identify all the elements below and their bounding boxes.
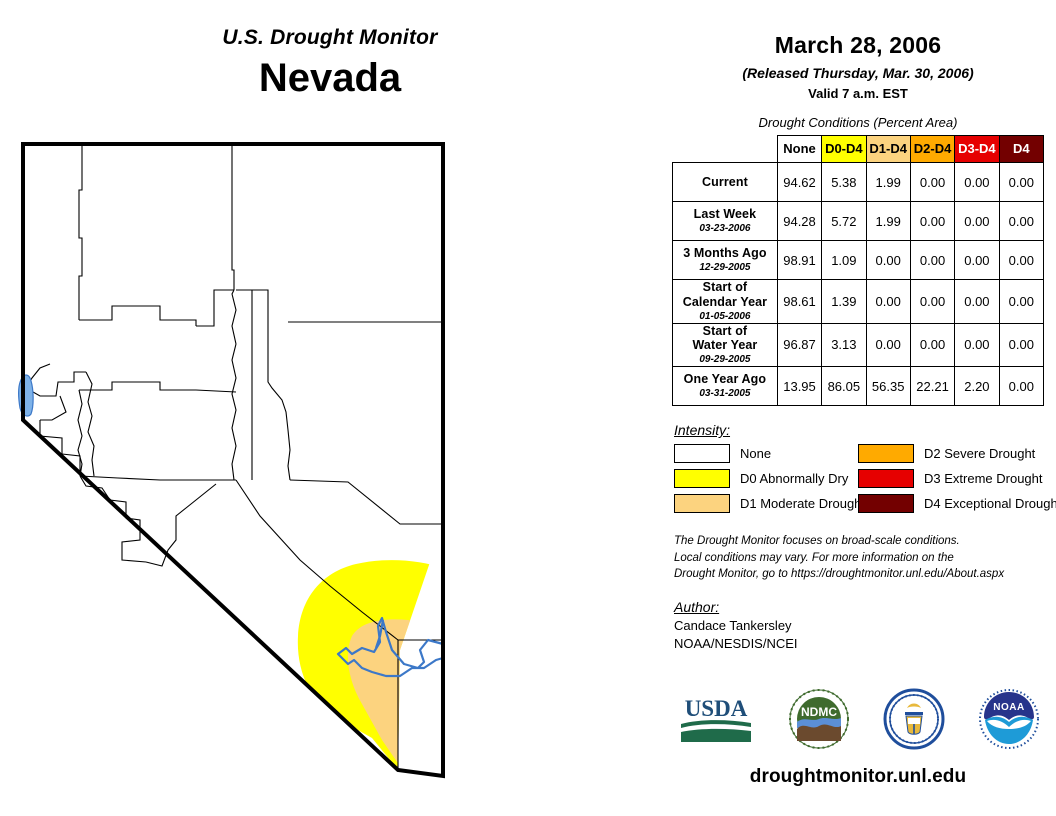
usda-logo: USDA [677,692,755,746]
table-cell-d0-d4: 1.09 [822,241,866,280]
legend-swatch [674,494,730,513]
table-row: Current94.625.381.990.000.000.00 [673,163,1044,202]
table-cell-d0-d4: 86.05 [822,367,866,406]
row-label: One Year Ago03-31-2005 [673,367,778,406]
legend-item: D3 Extreme Drought [858,469,1048,488]
date-block: March 28, 2006 (Released Thursday, Mar. … [660,0,1056,101]
table-cell-d3-d4: 0.00 [955,280,999,324]
author-heading: Author: [674,599,1056,615]
legend-label: None [740,446,771,461]
drought-monitor-page: U.S. Drought Monitor Nevada [0,0,1056,816]
row-label: Last Week03-23-2006 [673,202,778,241]
table-cell-d1-d4: 56.35 [866,367,910,406]
table-cell-none: 94.28 [777,202,821,241]
table-header-row: None D0-D4 D1-D4 D2-D4 D3-D4 D4 [673,136,1044,163]
table-cell-d1-d4: 1.99 [866,163,910,202]
table-cell-d3-d4: 0.00 [955,163,999,202]
legend-item: None [674,444,858,463]
row-label-date: 03-23-2006 [673,223,777,235]
column-header-d3d4: D3-D4 [955,136,999,163]
row-label-name: Start ofWater Year [673,324,777,354]
table-cell-d1-d4: 0.00 [866,323,910,367]
map-title-block: U.S. Drought Monitor Nevada [0,26,660,101]
table-cell-d2-d4: 0.00 [910,163,954,202]
svg-text:NDMC: NDMC [801,705,837,719]
column-header-d0d4: D0-D4 [822,136,866,163]
map-panel: U.S. Drought Monitor Nevada [0,0,660,816]
row-label: 3 Months Ago12-29-2005 [673,241,778,280]
disclaimer-line-2: Local conditions may vary. For more info… [674,550,1056,567]
legend-label: D0 Abnormally Dry [740,471,848,486]
table-row: Start ofCalendar Year01-05-200698.611.39… [673,280,1044,324]
table-cell-none: 98.61 [777,280,821,324]
table-cell-none: 94.62 [777,163,821,202]
legend-item: D4 Exceptional Drought [858,494,1048,513]
author-affiliation: NOAA/NESDIS/NCEI [674,635,1056,653]
usdc-seal-logo [883,688,945,750]
table-cell-d1-d4: 0.00 [866,280,910,324]
intensity-legend-grid: NoneD2 Severe DroughtD0 Abnormally DryD3… [674,444,1056,513]
table-row: 3 Months Ago12-29-200598.911.090.000.000… [673,241,1044,280]
intensity-heading: Intensity: [674,422,1056,438]
table-cell-d4: 0.00 [999,323,1043,367]
table-cell-d4: 0.00 [999,202,1043,241]
row-label-name: One Year Ago [673,372,777,387]
header-spacer [673,136,778,163]
map-supertitle: U.S. Drought Monitor [0,26,660,49]
row-label: Start ofWater Year09-29-2005 [673,323,778,367]
legend-label: D4 Exceptional Drought [924,496,1056,511]
legend-item: D2 Severe Drought [858,444,1048,463]
row-label: Start ofCalendar Year01-05-2006 [673,280,778,324]
info-panel: March 28, 2006 (Released Thursday, Mar. … [660,0,1056,816]
row-label-name: Last Week [673,207,777,222]
table-cell-d4: 0.00 [999,280,1043,324]
legend-item: D1 Moderate Drought [674,494,858,513]
row-label: Current [673,163,778,202]
svg-text:NOAA: NOAA [993,702,1024,713]
svg-text:USDA: USDA [684,696,747,721]
row-label-date: 01-05-2006 [673,311,777,323]
table-cell-d0-d4: 5.38 [822,163,866,202]
table-header: None D0-D4 D1-D4 D2-D4 D3-D4 D4 [673,136,1044,163]
legend-swatch [858,494,914,513]
table-cell-d1-d4: 0.00 [866,241,910,280]
noaa-logo: NOAA [978,688,1040,750]
nevada-drought-map[interactable] [0,120,560,800]
row-label-date: 03-31-2005 [673,388,777,400]
map-state-title: Nevada [0,55,660,101]
ndmc-logo: NDMC [788,688,850,750]
table-cell-d3-d4: 0.00 [955,202,999,241]
legend-label: D1 Moderate Drought [740,496,865,511]
table-cell-d4: 0.00 [999,367,1043,406]
table-cell-d0-d4: 1.39 [822,280,866,324]
site-url[interactable]: droughtmonitor.unl.edu [660,766,1056,788]
table-body: Current94.625.381.990.000.000.00Last Wee… [673,163,1044,406]
table-cell-none: 13.95 [777,367,821,406]
intensity-legend: Intensity: NoneD2 Severe DroughtD0 Abnor… [674,422,1056,513]
disclaimer-text: The Drought Monitor focuses on broad-sca… [674,533,1056,583]
disclaimer-line-1: The Drought Monitor focuses on broad-sca… [674,533,1056,550]
table-row: One Year Ago03-31-200513.9586.0556.3522.… [673,367,1044,406]
column-header-d4: D4 [999,136,1043,163]
table-cell-none: 98.91 [777,241,821,280]
row-label-date: 09-29-2005 [673,354,777,366]
table-row: Last Week03-23-200694.285.721.990.000.00… [673,202,1044,241]
legend-swatch [674,469,730,488]
table-cell-d0-d4: 3.13 [822,323,866,367]
column-header-d1d4: D1-D4 [866,136,910,163]
column-header-d2d4: D2-D4 [910,136,954,163]
lake-tahoe-water [19,375,33,416]
legend-item: D0 Abnormally Dry [674,469,858,488]
table-cell-d0-d4: 5.72 [822,202,866,241]
table-cell-d2-d4: 0.00 [910,241,954,280]
author-section: Author: Candace Tankersley NOAA/NESDIS/N… [674,599,1056,653]
column-header-none: None [777,136,821,163]
table-cell-d4: 0.00 [999,163,1043,202]
table-cell-d2-d4: 22.21 [910,367,954,406]
table-cell-none: 96.87 [777,323,821,367]
table-cell-d3-d4: 0.00 [955,241,999,280]
drought-conditions-table: None D0-D4 D1-D4 D2-D4 D3-D4 D4 Current9… [672,135,1044,406]
row-label-date: 12-29-2005 [673,262,777,274]
row-label-name: 3 Months Ago [673,246,777,261]
legend-swatch [858,469,914,488]
table-cell-d1-d4: 1.99 [866,202,910,241]
legend-swatch [674,444,730,463]
table-cell-d3-d4: 2.20 [955,367,999,406]
row-label-name: Current [673,175,777,190]
table-cell-d4: 0.00 [999,241,1043,280]
table-caption: Drought Conditions (Percent Area) [660,115,1056,130]
release-date: March 28, 2006 [660,32,1056,59]
author-name: Candace Tankersley [674,617,1056,635]
table-cell-d2-d4: 0.00 [910,323,954,367]
logo-row: USDA NDMC [660,688,1056,750]
table-row: Start ofWater Year09-29-200596.873.130.0… [673,323,1044,367]
legend-label: D2 Severe Drought [924,446,1035,461]
table-cell-d3-d4: 0.00 [955,323,999,367]
drought-region-d1 [348,619,443,776]
disclaimer-line-3: Drought Monitor, go to https://droughtmo… [674,566,1056,583]
table-cell-d2-d4: 0.00 [910,280,954,324]
legend-swatch [858,444,914,463]
legend-label: D3 Extreme Drought [924,471,1043,486]
valid-line: Valid 7 a.m. EST [660,86,1056,101]
row-label-name: Start ofCalendar Year [673,280,777,310]
table-cell-d2-d4: 0.00 [910,202,954,241]
released-line: (Released Thursday, Mar. 30, 2006) [660,65,1056,81]
